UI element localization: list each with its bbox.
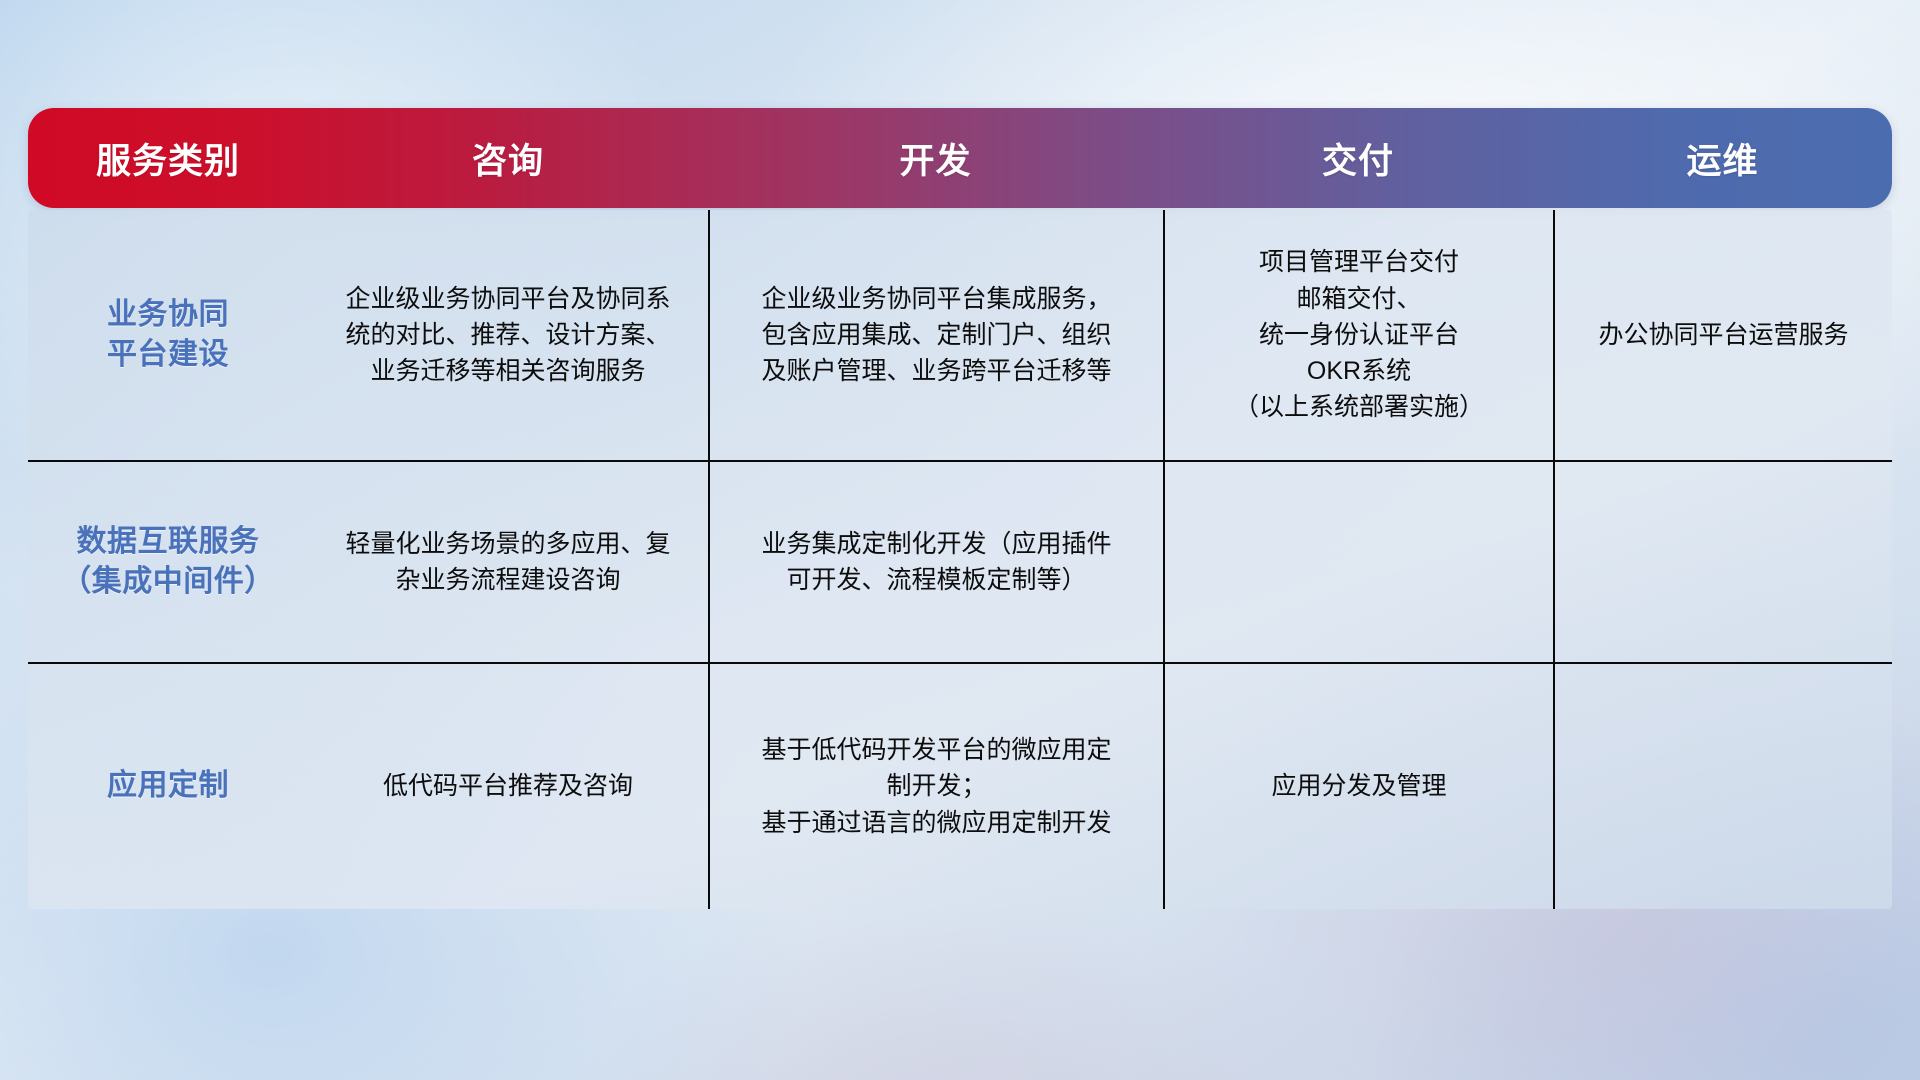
table-row: 业务协同 平台建设 企业级业务协同平台及协同系 统的对比、推荐、设计方案、 业务… — [28, 210, 1892, 460]
cell-development: 企业级业务协同平台集成服务， 包含应用集成、定制门户、组织 及账户管理、业务跨平… — [708, 210, 1163, 460]
row-category-label: 数据互联服务 （集成中间件） — [28, 462, 308, 662]
cell-delivery: 项目管理平台交付 邮箱交付、 统一身份认证平台 OKR系统 （以上系统部署实施） — [1163, 210, 1553, 460]
column-header-category: 服务类别 — [28, 108, 308, 208]
cell-delivery: 应用分发及管理 — [1163, 664, 1553, 909]
table-row: 应用定制 低代码平台推荐及咨询 基于低代码开发平台的微应用定 制开发； 基于通过… — [28, 662, 1892, 909]
cell-development: 业务集成定制化开发（应用插件 可开发、流程模板定制等） — [708, 462, 1163, 662]
table-row: 数据互联服务 （集成中间件） 轻量化业务场景的多应用、复 杂业务流程建设咨询 业… — [28, 460, 1892, 662]
cell-operations — [1553, 664, 1892, 909]
cell-delivery — [1163, 462, 1553, 662]
cell-consulting: 轻量化业务场景的多应用、复 杂业务流程建设咨询 — [308, 462, 708, 662]
column-header-delivery: 交付 — [1163, 108, 1553, 208]
cell-operations — [1553, 462, 1892, 662]
table-body: 业务协同 平台建设 企业级业务协同平台及协同系 统的对比、推荐、设计方案、 业务… — [28, 210, 1892, 909]
column-header-operations: 运维 — [1553, 108, 1892, 208]
column-header-development: 开发 — [708, 108, 1163, 208]
cell-consulting: 低代码平台推荐及咨询 — [308, 664, 708, 909]
cell-operations: 办公协同平台运营服务 — [1553, 210, 1892, 460]
cell-consulting: 企业级业务协同平台及协同系 统的对比、推荐、设计方案、 业务迁移等相关咨询服务 — [308, 210, 708, 460]
row-category-label: 应用定制 — [28, 664, 308, 909]
column-header-consulting: 咨询 — [308, 108, 708, 208]
row-category-label: 业务协同 平台建设 — [28, 210, 308, 460]
service-matrix-table: 服务类别 咨询 开发 交付 运维 业务协同 平台建设 企业级业务协同平台及协同系… — [28, 108, 1892, 909]
table-header-row: 服务类别 咨询 开发 交付 运维 — [28, 108, 1892, 208]
cell-development: 基于低代码开发平台的微应用定 制开发； 基于通过语言的微应用定制开发 — [708, 664, 1163, 909]
